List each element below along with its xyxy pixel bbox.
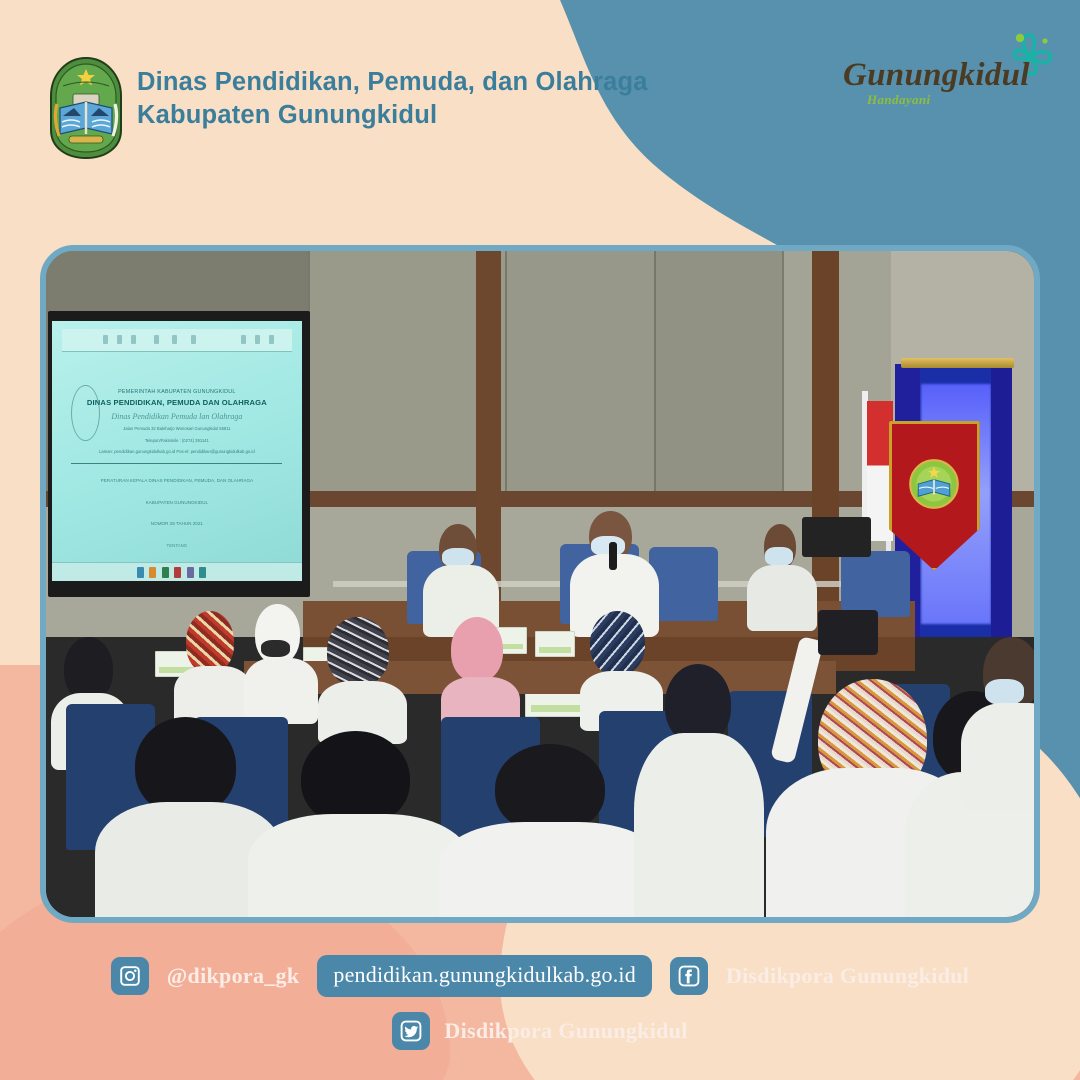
header-title-block: Dinas Pendidikan, Pemuda, dan Olahraga K… bbox=[137, 66, 648, 132]
social-row-secondary: Disdikpora Gunungkidul bbox=[0, 1012, 1080, 1050]
slide-doc-line-2: KABUPATEN GUNUNGKIDUL bbox=[67, 499, 287, 507]
chair bbox=[841, 551, 910, 618]
social-footer: @dikpora_gk pendidikan.gunungkidulkab.go… bbox=[0, 940, 1080, 1080]
pennant-seal-icon bbox=[908, 446, 961, 521]
slide-doc-line-4: TENTANG bbox=[67, 543, 287, 548]
curtain-rod bbox=[901, 358, 1015, 368]
audience-person-foreground bbox=[639, 664, 758, 923]
audience-person bbox=[174, 611, 253, 731]
instagram-icon[interactable] bbox=[111, 957, 149, 995]
meeting-photo-card: PEMERINTAH KABUPATEN GUNUNGKIDUL DINAS P… bbox=[40, 245, 1040, 923]
audience-person bbox=[244, 604, 318, 724]
wall-seam bbox=[782, 251, 784, 497]
audience-person bbox=[965, 637, 1040, 810]
social-row-primary: @dikpora_gk pendidikan.gunungkidulkab.go… bbox=[0, 955, 1080, 997]
slide-app-toolbar bbox=[62, 329, 292, 352]
raised-arm bbox=[770, 636, 824, 764]
facebook-icon[interactable] bbox=[670, 957, 708, 995]
poster-header: Dinas Pendidikan, Pemuda, dan Olahraga K… bbox=[0, 0, 1080, 200]
slide-taskbar bbox=[52, 562, 302, 580]
twitter-icon[interactable] bbox=[392, 1012, 430, 1050]
brand-wordmark: Gunungkidul bbox=[843, 58, 1028, 92]
twitter-glyph bbox=[399, 1019, 423, 1043]
slide-line-3-javanese: Dinas Pendidikan Pemuda lan Olahraga bbox=[67, 412, 287, 421]
wall-panel bbox=[505, 251, 653, 497]
facebook-glyph bbox=[677, 964, 701, 988]
blue-curtain-right bbox=[991, 364, 1013, 637]
website-pill[interactable]: pendidikan.gunungkidulkab.go.id bbox=[317, 955, 652, 997]
website-url: pendidikan.gunungkidulkab.go.id bbox=[333, 962, 636, 987]
slide-address-2: Telepon/Faksimile : (0274) 391141 bbox=[67, 438, 287, 444]
twitter-page-name[interactable]: Disdikpora Gunungkidul bbox=[444, 1018, 687, 1044]
slide-doc-line-1: PERATURAN KEPALA DINAS PENDIDIKAN, PEMUD… bbox=[67, 477, 287, 485]
slide-line-1: PEMERINTAH KABUPATEN GUNUNGKIDUL bbox=[67, 389, 287, 395]
audience-person bbox=[318, 617, 407, 744]
wall-seam bbox=[654, 251, 656, 497]
wall-seam bbox=[505, 251, 507, 497]
page-title-line-1: Dinas Pendidikan, Pemuda, dan Olahraga bbox=[137, 66, 648, 99]
slide-address-1: Jalan Pemuda 32 Baleharjo Wonosari Gunun… bbox=[67, 426, 287, 432]
slide-content: PEMERINTAH KABUPATEN GUNUNGKIDUL DINAS P… bbox=[67, 362, 287, 549]
smartphone bbox=[818, 610, 878, 655]
chair bbox=[649, 547, 718, 620]
camera-device bbox=[802, 517, 871, 557]
slide-line-2: DINAS PENDIDIKAN, PEMUDA DAN OLAHRAGA bbox=[67, 398, 287, 407]
brand-tagline: Handayani bbox=[867, 92, 931, 108]
slide-address-3: Laman: pendidikan.gunungkidulkab.go.id P… bbox=[67, 449, 287, 455]
handheld-microphone bbox=[609, 542, 617, 570]
audience-person-foreground bbox=[451, 744, 649, 923]
projected-slide: PEMERINTAH KABUPATEN GUNUNGKIDUL DINAS P… bbox=[52, 321, 302, 581]
slide-divider bbox=[71, 463, 282, 465]
instagram-handle[interactable]: @dikpora_gk bbox=[167, 963, 300, 989]
audience-person-foreground bbox=[263, 731, 451, 923]
supply-box bbox=[535, 631, 575, 658]
instagram-glyph bbox=[118, 964, 142, 988]
gunungkidul-regency-seal bbox=[47, 56, 125, 160]
page-title-line-2: Kabupaten Gunungkidul bbox=[137, 99, 648, 132]
facebook-page-name[interactable]: Disdikpora Gunungkidul bbox=[726, 963, 969, 989]
meeting-photo: PEMERINTAH KABUPATEN GUNUNGKIDUL DINAS P… bbox=[46, 251, 1034, 917]
wall-panel bbox=[654, 251, 782, 497]
slide-doc-line-3: NOMOR 28 TAHUN 2021 bbox=[67, 520, 287, 528]
poster-canvas: Dinas Pendidikan, Pemuda, dan Olahraga K… bbox=[0, 0, 1080, 1080]
gunungkidul-brand-logo: Gunungkidul Handayani bbox=[843, 36, 1058, 126]
